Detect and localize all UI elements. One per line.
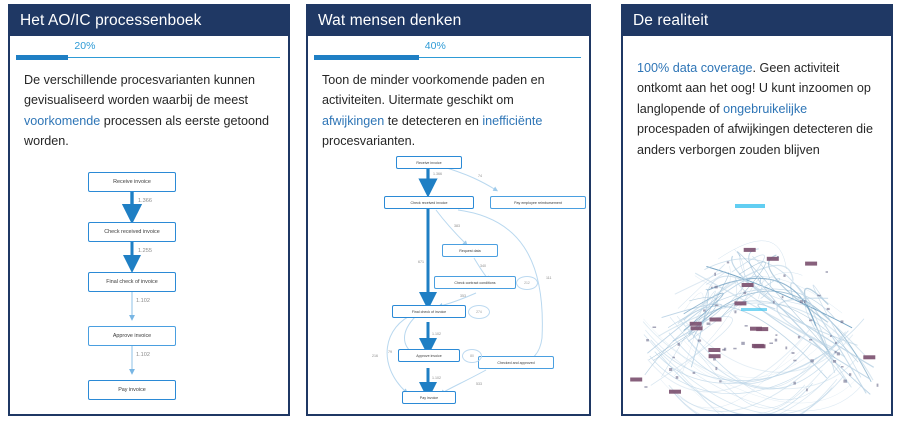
process-map-spaghetti[interactable]	[623, 196, 891, 414]
body-text-run: Toon de minder voorkomende paden en acti…	[322, 73, 545, 107]
highlight-text: voorkomende	[24, 114, 100, 128]
edge-label-m1-m3: 74	[478, 174, 482, 178]
edge-label-4: 1.102	[136, 352, 150, 358]
body-text-run: procespaden of afwijkingen detecteren di…	[637, 122, 873, 156]
panel-3-paragraph: 100% data coverage. Geen activiteit ontk…	[637, 58, 879, 160]
panel-2-progress-fill	[314, 55, 419, 60]
panel-1-progress-fill	[16, 55, 68, 60]
edge-label-1: 1.366	[138, 198, 152, 204]
self-loop-check-contract[interactable]: 212	[516, 276, 538, 290]
edge-label-m6-m7-alt: 79	[388, 350, 392, 354]
panel-1-paragraph: De verschillende procesvarianten kunnen …	[24, 70, 276, 152]
panel-1-progress: 20%	[16, 40, 280, 64]
panel-2-progress: 40%	[314, 40, 581, 64]
node-check-received-invoice[interactable]: Check received invoice	[384, 196, 474, 209]
body-text-run: te detecteren en	[384, 114, 482, 128]
node-pay-invoice[interactable]: Pay invoice	[402, 391, 456, 404]
spaghetti-edges	[623, 196, 891, 414]
highlight-text: 100% data coverage	[637, 61, 753, 75]
self-loop-approve-invoice[interactable]: 80	[462, 349, 482, 363]
edge-label-m2-m4: 383	[454, 224, 460, 228]
node-receive-invoice[interactable]: Receive invoice	[396, 156, 462, 169]
process-map-branching[interactable]: Receive invoice Check received invoice P…	[308, 148, 589, 416]
highlight-text: ongebruikelijke	[723, 102, 807, 116]
node-check-received-invoice[interactable]: Check received invoice	[88, 222, 176, 242]
panel-1-header: Het AO/IC processenboek	[10, 6, 288, 36]
edge-label-m7-m9: 1.102	[432, 376, 441, 380]
process-map-simple[interactable]: Receive invoice Check received invoice F…	[10, 172, 288, 416]
node-approve-invoice[interactable]: Approve invoice	[398, 349, 460, 362]
self-loop-final-check[interactable]: 274	[468, 305, 490, 319]
highlight-text: afwijkingen	[322, 114, 384, 128]
node-final-check-of-invoice[interactable]: Final check of invoice	[88, 272, 176, 292]
panel-wat-mensen-denken: Wat mensen denken 40% Toon de minder voo…	[306, 4, 591, 416]
panel-2-header: Wat mensen denken	[308, 6, 589, 36]
edge-label-m6-m7: 1.102	[432, 332, 441, 336]
panel-3-header: De realiteit	[623, 6, 891, 36]
edge-label-m2-m6: 671	[418, 260, 424, 264]
slide-canvas: Het AO/IC processenboek 20% De verschill…	[0, 0, 900, 426]
edge-label-m1-m2: 1.366	[433, 172, 442, 176]
node-receive-invoice[interactable]: Receive invoice	[88, 172, 176, 192]
node-final-check-of-invoice[interactable]: Final check of invoice	[392, 305, 466, 318]
edge-label-m2-m8: 111	[546, 276, 551, 280]
panel-1-progress-label: 20%	[74, 40, 95, 52]
edge-label-2: 1.255	[138, 248, 152, 254]
node-checked-and-approved[interactable]: Checked and approved	[478, 356, 554, 369]
node-request-data[interactable]: Request data	[442, 244, 498, 257]
edge-label-3: 1.102	[136, 298, 150, 304]
panel-ao-ic-processenboek: Het AO/IC processenboek 20% De verschill…	[8, 4, 290, 416]
edge-label-m6-m9: 216	[372, 354, 378, 358]
highlight-text: inefficiënte	[482, 114, 542, 128]
panel-2-title: Wat mensen denken	[318, 12, 461, 30]
panel-1-title: Het AO/IC processenboek	[20, 12, 202, 30]
panel-de-realiteit: De realiteit 100% data coverage. Geen ac…	[621, 4, 893, 416]
edge-label-m4-m5: 340	[480, 264, 486, 268]
node-approve-invoice[interactable]: Approve invoice	[88, 326, 176, 346]
body-text-run: procesvarianten.	[322, 134, 415, 148]
node-pay-invoice[interactable]: Pay invoice	[88, 380, 176, 400]
panel-2-progress-label: 40%	[425, 40, 446, 52]
panel-2-paragraph: Toon de minder voorkomende paden en acti…	[322, 70, 577, 152]
panel-3-title: De realiteit	[633, 12, 708, 30]
node-pay-employee-reimbursement[interactable]: Pay employee reimbursement	[490, 196, 586, 209]
node-check-contract-conditions[interactable]: Check contract conditions	[434, 276, 516, 289]
body-text-run: De verschillende procesvarianten kunnen …	[24, 73, 255, 107]
edge-label-m8-m9: 533	[476, 382, 482, 386]
edge-label-m5-m6: 353	[460, 294, 466, 298]
